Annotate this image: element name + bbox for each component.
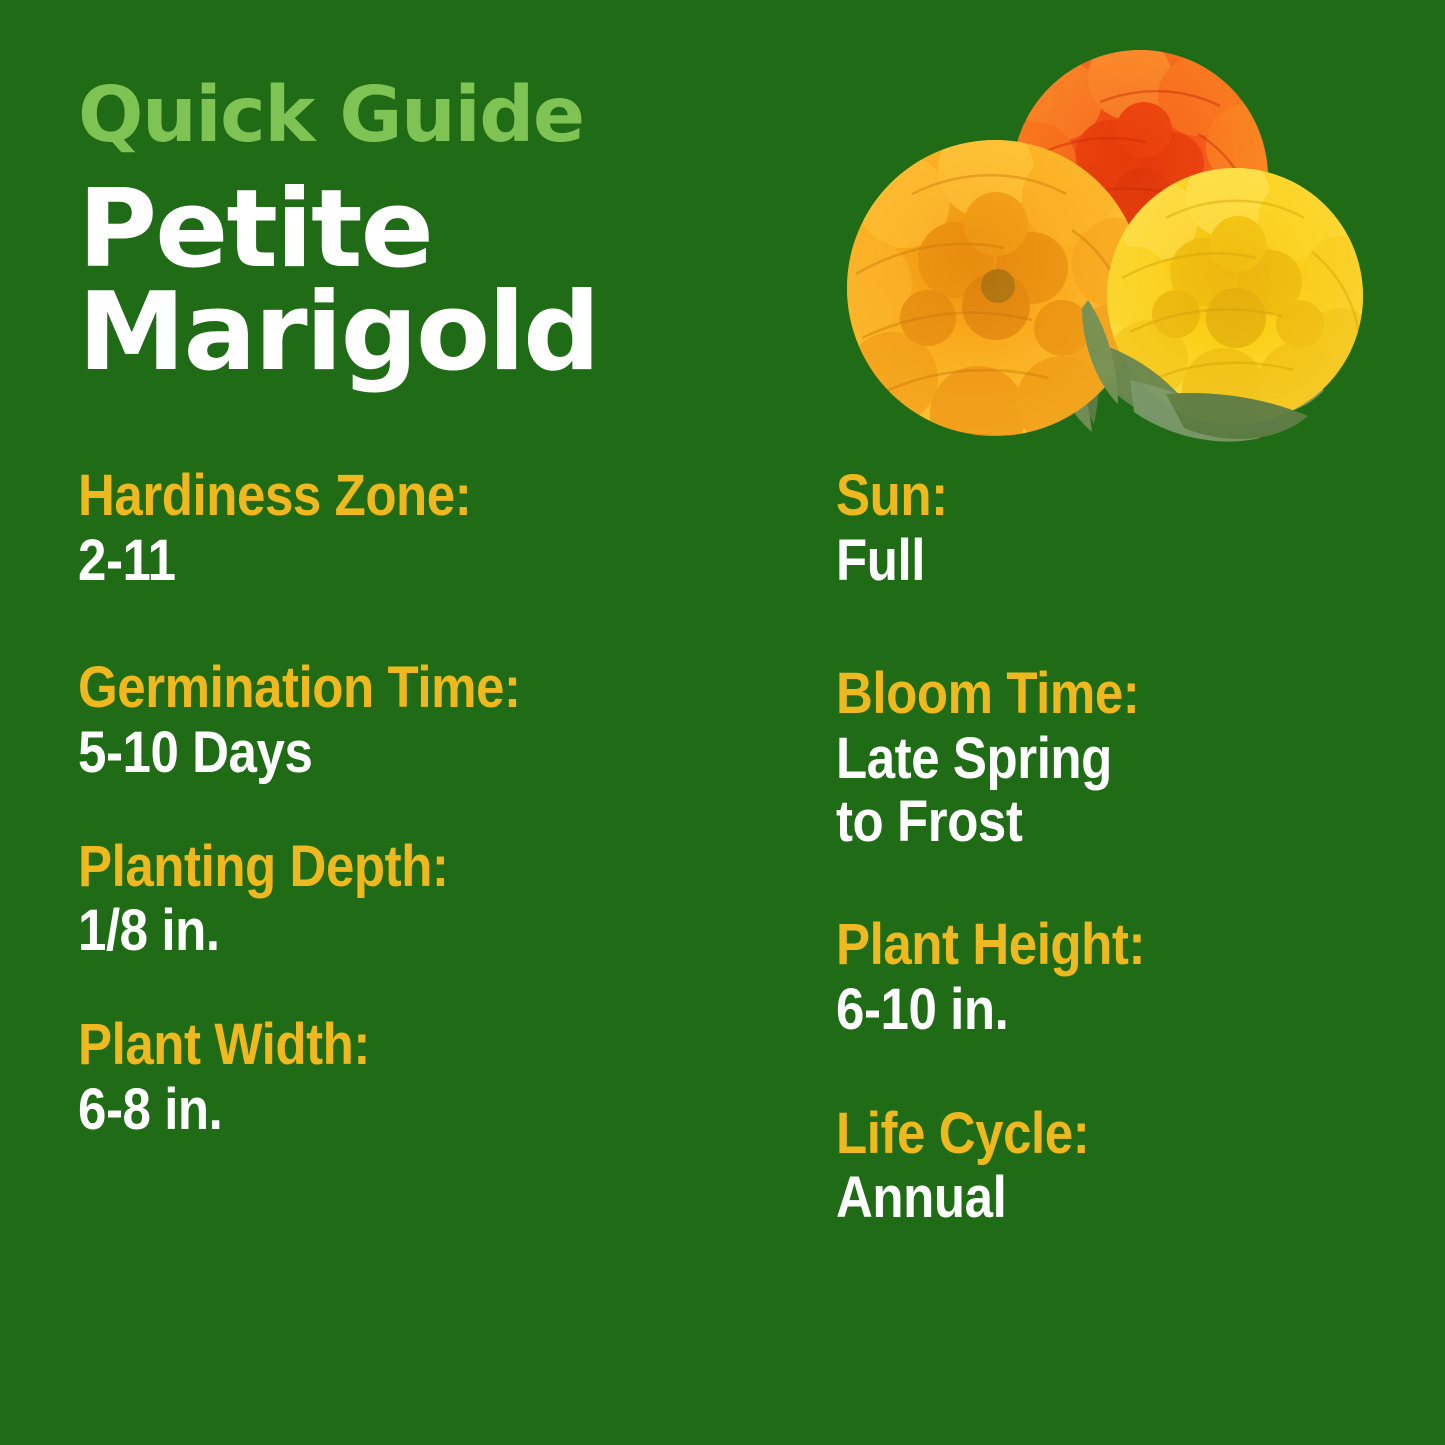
header-block: Quick Guide Petite Marigold bbox=[78, 78, 778, 385]
spec-label: Plant Width: bbox=[78, 1015, 694, 1075]
spec-value: 2-11 bbox=[78, 530, 694, 593]
spec-value: 5-10 Days bbox=[78, 722, 694, 785]
page-title: Petite Marigold bbox=[78, 179, 778, 384]
spec-label: Bloom Time: bbox=[836, 664, 1329, 724]
spec-planting-depth: Planting Depth: 1/8 in. bbox=[78, 837, 778, 963]
spec-value: 6-8 in. bbox=[78, 1079, 694, 1142]
marigold-illustration bbox=[800, 38, 1410, 468]
spec-bloom-time: Bloom Time: Late Spring to Frost bbox=[836, 664, 1396, 853]
spec-hardiness-zone: Hardiness Zone: 2-11 bbox=[78, 466, 778, 592]
spec-germination-time: Germination Time: 5-10 Days bbox=[78, 658, 778, 784]
spec-column-left: Hardiness Zone: 2-11 Germination Time: 5… bbox=[78, 466, 778, 1141]
spec-column-right: Sun: Full Bloom Time: Late Spring to Fro… bbox=[836, 466, 1396, 1230]
spec-label: Plant Height: bbox=[836, 915, 1329, 975]
spec-sun: Sun: Full bbox=[836, 466, 1396, 592]
spec-label: Sun: bbox=[836, 466, 1329, 526]
spec-value: Late Spring to Frost bbox=[836, 728, 1329, 853]
spec-life-cycle: Life Cycle: Annual bbox=[836, 1104, 1396, 1230]
spec-value: 1/8 in. bbox=[78, 900, 694, 963]
spec-value: Annual bbox=[836, 1167, 1329, 1230]
spec-label: Life Cycle: bbox=[836, 1104, 1329, 1164]
quick-guide-card: Quick Guide Petite Marigold bbox=[0, 0, 1445, 1445]
spec-value: Full bbox=[836, 530, 1329, 593]
page-title-line-1: Petite bbox=[78, 179, 778, 282]
spec-label: Hardiness Zone: bbox=[78, 466, 694, 526]
quick-guide-kicker: Quick Guide bbox=[78, 78, 778, 153]
spec-value: 6-10 in. bbox=[836, 979, 1329, 1042]
spec-plant-width: Plant Width: 6-8 in. bbox=[78, 1015, 778, 1141]
spec-plant-height: Plant Height: 6-10 in. bbox=[836, 915, 1396, 1041]
page-title-line-2: Marigold bbox=[78, 282, 778, 385]
spec-label: Germination Time: bbox=[78, 658, 694, 718]
spec-label: Planting Depth: bbox=[78, 837, 694, 897]
marigold-flowers-image bbox=[800, 38, 1410, 468]
